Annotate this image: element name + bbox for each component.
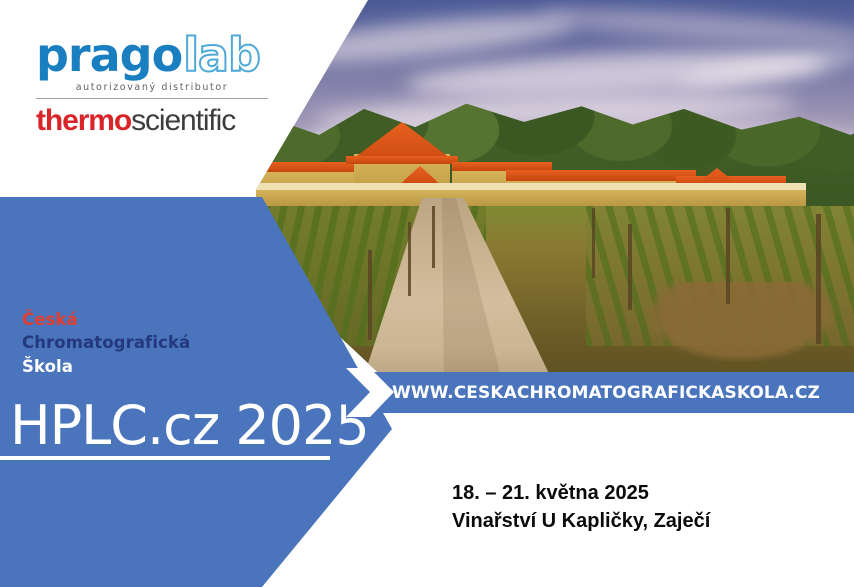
school-name-line-2: Chromatografická <box>22 331 190 354</box>
vine-post <box>592 208 595 278</box>
vine-post <box>726 208 730 304</box>
event-dates: 18. – 21. května 2025 <box>452 479 710 507</box>
winery-vineyard-photo <box>256 0 854 380</box>
building-roof <box>506 170 696 181</box>
dirt-patch <box>646 282 836 362</box>
cloud-icon <box>536 2 854 52</box>
scientific-wordmark: scientific <box>131 104 235 137</box>
building-gable <box>354 122 450 158</box>
sponsor-logos: prago lab autorizovaný distributor therm… <box>36 32 268 136</box>
pragolab-tagline: autorizovaný distributor <box>36 82 268 93</box>
building-roof <box>346 156 458 164</box>
cloud-icon <box>275 6 577 71</box>
poster-root: prago lab autorizovaný distributor therm… <box>0 0 854 587</box>
thermo-scientific-logo: thermoscientific <box>36 106 268 136</box>
page-title: HPLC.cz 2025 <box>10 394 369 457</box>
school-name-line-1: Česká <box>22 308 190 331</box>
vine-post <box>816 214 821 344</box>
event-venue: Vinařství U Kapličky, Zaječí <box>452 507 710 535</box>
building-gable <box>400 166 440 184</box>
cloud-icon <box>676 43 854 92</box>
pragolab-wordmark-prago: prago <box>36 32 182 78</box>
vine-post <box>432 206 435 268</box>
logo-divider <box>36 98 268 99</box>
vine-post <box>408 222 411 296</box>
pragolab-wordmark-lab: lab <box>183 32 260 78</box>
cloud-icon <box>405 43 827 105</box>
boundary-wall-cap <box>256 183 806 190</box>
school-name-line-3: Škola <box>22 355 190 378</box>
website-url[interactable]: WWW.CESKACHROMATOGRAFICKASKOLA.CZ <box>392 372 820 413</box>
vine-post <box>368 250 372 340</box>
photo-sky <box>256 0 854 380</box>
vine-post <box>628 224 632 310</box>
school-name-block: Česká Chromatografická Škola <box>22 308 190 378</box>
pragolab-logo: prago lab <box>36 32 268 78</box>
event-details: 18. – 21. května 2025 Vinařství U Kaplič… <box>452 479 710 536</box>
thermo-wordmark: thermo <box>36 104 131 137</box>
